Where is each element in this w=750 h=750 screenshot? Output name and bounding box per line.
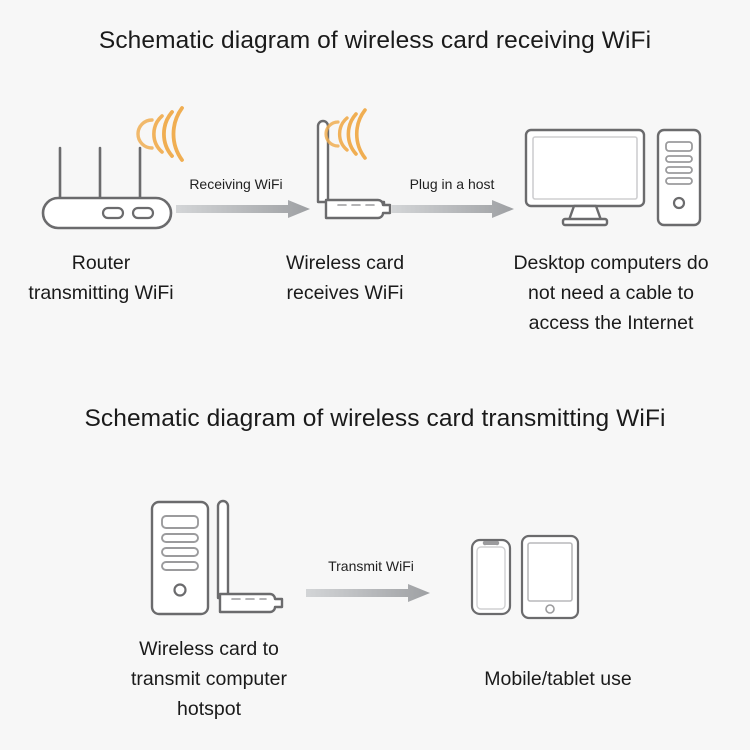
caption-desktop-line2: not need a cable to xyxy=(478,278,744,308)
tower-with-wireless-card-icon xyxy=(150,494,300,618)
arrow-transmit-wifi-label: Transmit WiFi xyxy=(306,558,436,574)
section-title-receiving: Schematic diagram of wireless card recei… xyxy=(0,27,750,55)
arrow-transmit-wifi xyxy=(306,584,430,602)
phone-tablet-icon xyxy=(470,534,580,620)
caption-computer-card-line2: transmit computer xyxy=(52,664,366,694)
desktop-computer-icon xyxy=(524,128,704,228)
caption-mobile-tablet-line1: Mobile/tablet use xyxy=(400,664,716,694)
caption-wireless-card-line2: receives WiFi xyxy=(254,278,436,308)
caption-router: Router transmitting WiFi xyxy=(10,248,192,308)
caption-mobile-tablet: Mobile/tablet use xyxy=(400,664,716,694)
arrow-receiving-wifi-label: Receiving WiFi xyxy=(176,176,296,192)
caption-router-line2: transmitting WiFi xyxy=(10,278,192,308)
caption-wireless-card-line1: Wireless card xyxy=(254,248,436,278)
arrow-receiving-wifi xyxy=(176,200,310,218)
caption-computer-card: Wireless card to transmit computer hotsp… xyxy=(52,634,366,724)
caption-computer-card-line1: Wireless card to xyxy=(52,634,366,664)
caption-desktop-line1: Desktop computers do xyxy=(478,248,744,278)
section-title-transmitting: Schematic diagram of wireless card trans… xyxy=(0,405,750,433)
caption-desktop: Desktop computers do not need a cable to… xyxy=(478,248,744,338)
arrow-plug-in-host xyxy=(392,200,514,218)
caption-wireless-card: Wireless card receives WiFi xyxy=(254,248,436,308)
caption-router-line1: Router xyxy=(10,248,192,278)
diagram-page: Schematic diagram of wireless card recei… xyxy=(0,0,750,750)
caption-desktop-line3: access the Internet xyxy=(478,308,744,338)
caption-computer-card-line3: hotspot xyxy=(52,694,366,724)
arrow-plug-in-host-label: Plug in a host xyxy=(392,176,512,192)
